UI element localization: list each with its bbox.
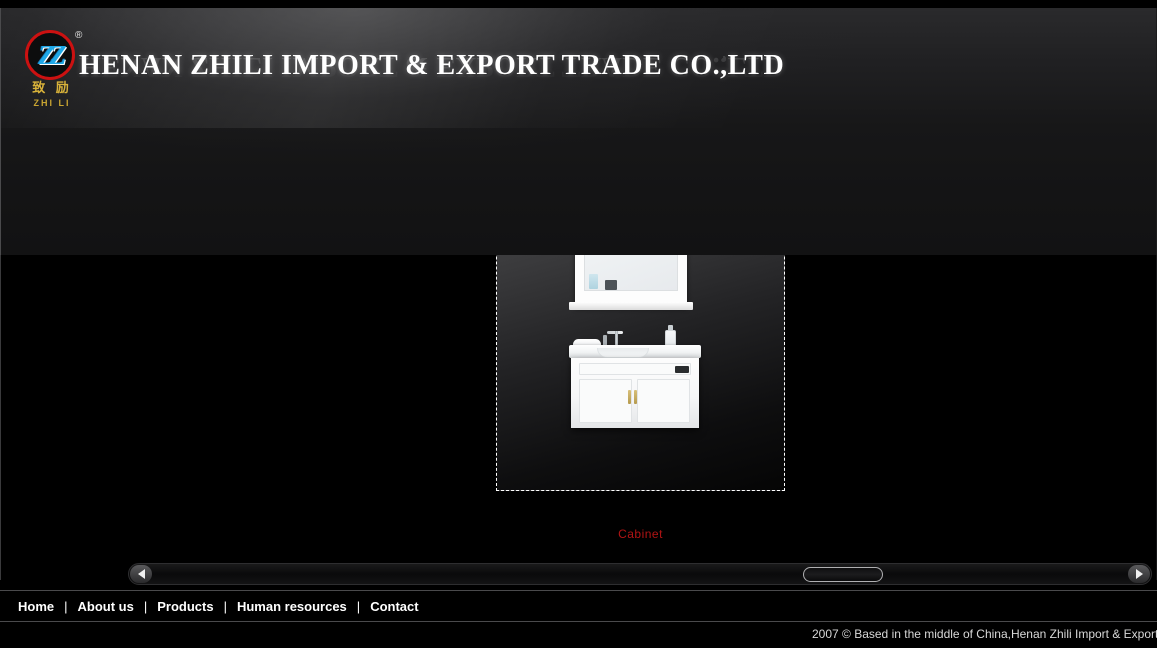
carousel-scrollbar[interactable]	[128, 563, 1152, 585]
page-title-reflection: HENAN ZHILI IMPORT & EXPORT TRADE CO.,LT…	[79, 56, 784, 82]
scrollbar-thumb[interactable]	[803, 567, 883, 582]
cabinet-basin-icon	[597, 348, 649, 358]
registered-trademark-icon: ®	[75, 30, 82, 41]
logo-chinese-name: 致 励	[24, 82, 80, 96]
cabinet-body-icon	[571, 358, 699, 428]
nav-item-products[interactable]: Products	[157, 599, 213, 614]
site-header: ZZ ® 致 励 ZHI LI HENAN ZHILI IMPORT & EXP…	[0, 8, 1157, 255]
cabinet-mirror-icon	[575, 255, 687, 307]
nav-separator: |	[64, 599, 67, 614]
nav-item-home[interactable]: Home	[18, 599, 54, 614]
nav-item-human-resources[interactable]: Human resources	[237, 599, 347, 614]
featured-product-caption: Cabinet	[496, 527, 785, 541]
nav-separator: |	[357, 599, 360, 614]
logo-pinyin: ZHI LI	[24, 98, 80, 108]
product-stage: Cabinet	[0, 255, 1157, 580]
scroll-right-arrow-icon[interactable]	[1128, 565, 1150, 583]
nav-item-about-us[interactable]: About us	[78, 599, 134, 614]
copyright-text: 2007 © Based in the middle of China,Hena…	[812, 627, 1157, 641]
site-footer: 2007 © Based in the middle of China,Hena…	[0, 622, 1157, 648]
nav-separator: |	[144, 599, 147, 614]
scroll-left-arrow-icon[interactable]	[130, 565, 152, 583]
main-navigation: Home | About us | Products | Human resou…	[0, 591, 1157, 621]
company-title-block: HENAN ZHILI IMPORT & EXPORT TRADE CO.,LT…	[79, 50, 784, 108]
featured-product-image[interactable]	[496, 255, 785, 491]
nav-separator: |	[224, 599, 227, 614]
nav-item-contact[interactable]: Contact	[370, 599, 418, 614]
company-logo[interactable]: ZZ ® 致 励 ZHI LI	[25, 30, 83, 114]
logo-monogram-icon: ZZ	[25, 30, 75, 80]
top-black-strip	[0, 0, 1157, 8]
page-root: ZZ ® 致 励 ZHI LI HENAN ZHILI IMPORT & EXP…	[0, 0, 1157, 648]
